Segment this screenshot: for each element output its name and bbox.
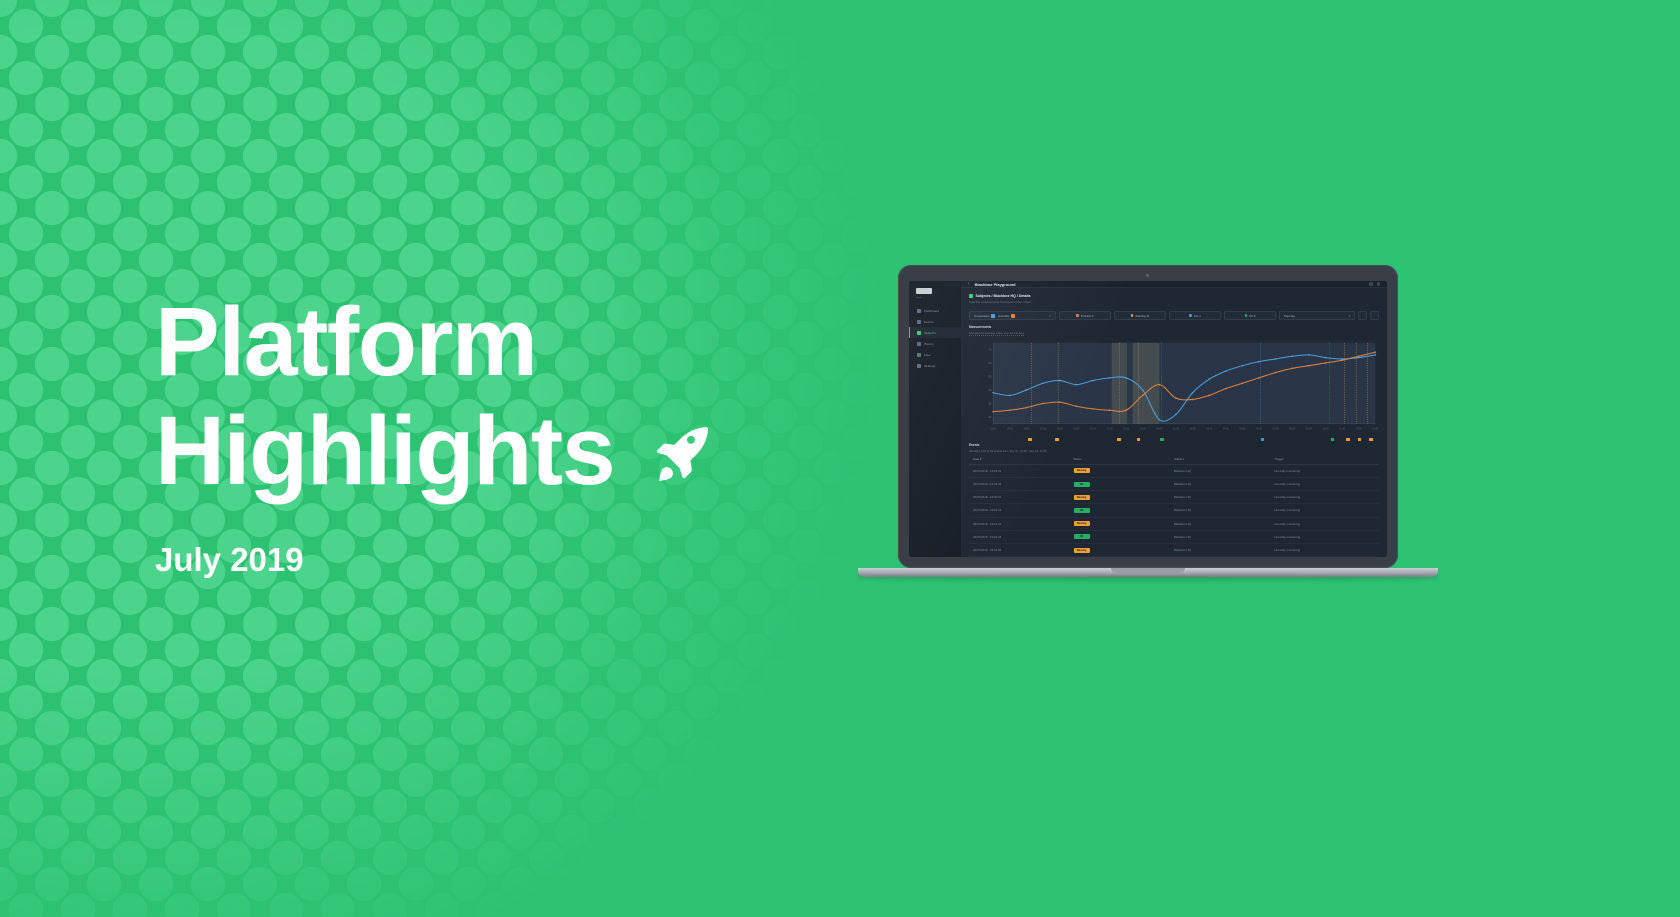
filter-ok-button[interactable]: OK 5	[1224, 311, 1276, 320]
sidebar-item-fleet[interactable]: Fleet	[909, 349, 961, 360]
title-line-2: Highlights	[155, 397, 935, 506]
title-text-line1: Platform	[155, 288, 536, 397]
table-body: 26/07/2019 - 19:52:31WarningBlackbox HQH…	[969, 465, 1379, 557]
chip-label: Humidity	[998, 314, 1009, 318]
fleet-icon	[917, 353, 921, 357]
sidebar-item-dashboard[interactable]: Dashboard	[909, 305, 961, 316]
event-marker[interactable]	[1028, 438, 1032, 441]
measurements-header: Measurements Showing the average value o…	[961, 320, 1387, 336]
status-dot-ok	[1245, 314, 1248, 317]
time-range-select[interactable]: Past day ▾	[1279, 311, 1355, 320]
breadcrumb: Subjects / Blackbox HQ / Details	[969, 294, 1379, 298]
subjects-icon	[969, 294, 973, 298]
chip-temperature[interactable]: Temperature	[974, 314, 995, 318]
chip-humidity[interactable]: Humidity	[998, 314, 1014, 318]
color-swatch-orange	[1011, 314, 1015, 318]
laptop-screen: cloud Dashboard Events Subjects	[909, 281, 1387, 557]
status-badge: Warning	[1074, 521, 1090, 526]
title-line-1: Platform	[155, 288, 935, 397]
table-row[interactable]: 26/07/2019 - 19:40:31WarningBlackbox HQH…	[969, 491, 1379, 504]
events-title: Events	[969, 443, 1379, 447]
event-marker[interactable]	[1137, 438, 1141, 441]
banner-copy: Platform Highlights July 2019	[155, 288, 935, 579]
cell-date: 26/07/2019 - 19:42:04	[973, 482, 1074, 486]
laptop-lid: cloud Dashboard Events Subjects	[898, 265, 1398, 568]
breadcrumb-section: Subjects / Blackbox HQ / Details View th…	[961, 288, 1387, 307]
sidebar-item-label: Settings	[924, 364, 935, 368]
svg-text:16:00: 16:00	[1023, 427, 1030, 430]
svg-text:30: 30	[988, 402, 992, 406]
cell-status: Warning	[1074, 521, 1175, 526]
status-dot-warning	[1131, 314, 1134, 317]
svg-text:21:00: 21:00	[1106, 427, 1113, 430]
webcam-icon	[1146, 274, 1149, 277]
svg-text:13:00: 13:00	[1372, 427, 1379, 430]
brand-logo	[909, 288, 961, 302]
cell-date: 26/07/2019 - 19:52:31	[973, 469, 1074, 473]
sidebar: cloud Dashboard Events Subjects	[909, 281, 961, 557]
column-header-trigger[interactable]: Trigger	[1275, 457, 1376, 461]
status-badge: OK	[1074, 534, 1090, 539]
metric-select[interactable]: Temperature Humidity ▾	[969, 311, 1056, 320]
download-icon[interactable]	[1370, 311, 1379, 320]
table-row[interactable]: 26/07/2019 - 19:52:31WarningBlackbox HQH…	[969, 465, 1379, 478]
svg-text:14:00: 14:00	[990, 427, 997, 430]
history-icon	[917, 342, 921, 346]
status-badge: OK	[1074, 482, 1090, 487]
table-row[interactable]: 26/07/2019 - 18:44:05WarningBlackbox HQH…	[969, 544, 1379, 557]
table-row[interactable]: 26/07/2019 - 19:42:04OKBlackbox HQHumidi…	[969, 478, 1379, 491]
table-row[interactable]: 26/07/2019 - 19:22:14OKBlackbox HQHumidi…	[969, 504, 1379, 517]
filter-label: Warning 11	[1135, 314, 1149, 318]
sidebar-item-events[interactable]: Events	[909, 316, 961, 327]
event-marker[interactable]	[1055, 438, 1059, 441]
event-marker[interactable]	[1331, 438, 1335, 441]
cell-subject: Blackbox HQ	[1174, 495, 1275, 499]
svg-text:60: 60	[988, 361, 992, 365]
cell-trigger: Humidity monitoring	[1275, 469, 1376, 473]
sidebar-item-subjects[interactable]: Subjects	[909, 327, 961, 338]
dashboard-icon	[917, 309, 921, 313]
svg-text:50: 50	[988, 375, 992, 379]
cell-date: 26/07/2019 - 19:12:31	[973, 522, 1074, 526]
page-title: Platform Highlights	[155, 288, 935, 505]
brand-sub-label: cloud	[909, 297, 961, 299]
svg-text:19:00: 19:00	[1073, 427, 1080, 430]
svg-text:22:00: 22:00	[1123, 427, 1130, 430]
svg-text:08:00: 08:00	[1289, 427, 1296, 430]
cell-status: OK	[1074, 508, 1175, 513]
table-header-row: Date ▾ Status Subject Trigger	[969, 457, 1379, 465]
title-text-line2: Highlights	[155, 397, 614, 506]
laptop-mockup: cloud Dashboard Events Subjects	[858, 265, 1438, 590]
chip-label: Temperature	[974, 314, 990, 318]
cell-trigger: Humidity monitoring	[1275, 495, 1376, 499]
gear-icon	[917, 364, 921, 368]
cell-date: 26/07/2019 - 19:02:44	[973, 535, 1074, 539]
svg-text:00:00: 00:00	[1156, 427, 1163, 430]
svg-text:02:00: 02:00	[1190, 427, 1197, 430]
topbar: ‹ Blackbox Playground	[961, 281, 1387, 288]
cell-subject: Blackbox HQ	[1174, 548, 1275, 552]
svg-text:05:00: 05:00	[1239, 427, 1246, 430]
event-marker[interactable]	[1117, 438, 1121, 441]
cell-trigger: Humidity monitoring	[1275, 548, 1376, 552]
svg-text:15:00: 15:00	[1007, 427, 1014, 430]
status-dot-problem	[1076, 314, 1079, 317]
svg-text:01:00: 01:00	[1173, 427, 1180, 430]
cell-subject: Blackbox HQ	[1174, 469, 1275, 473]
filter-problem-button[interactable]: Problem 1	[1059, 311, 1111, 320]
event-marker[interactable]	[1261, 438, 1265, 441]
event-marker[interactable]	[1369, 438, 1373, 441]
svg-text:09:00: 09:00	[1306, 427, 1313, 430]
table-row[interactable]: 26/07/2019 - 19:12:31WarningBlackbox HQH…	[969, 518, 1379, 531]
topbar-title: Blackbox Playground	[975, 282, 1016, 287]
svg-text:20:00: 20:00	[1090, 427, 1097, 430]
sidebar-item-label: Dashboard	[924, 309, 939, 313]
event-marker[interactable]	[1358, 438, 1362, 441]
cell-status: OK	[1074, 482, 1175, 487]
svg-text:06:00: 06:00	[1256, 427, 1263, 430]
sidebar-item-label: Fleet	[924, 353, 931, 357]
events-header: Events Showing 1-10 of 23 events from Ju…	[961, 438, 1387, 453]
main-content: ‹ Blackbox Playground Subjects / Blackbo…	[961, 281, 1387, 557]
measurements-title: Measurements	[969, 325, 1379, 329]
svg-text:04:00: 04:00	[1223, 427, 1230, 430]
banner-subtitle: July 2019	[155, 541, 935, 579]
events-subtitle: Showing 1-10 of 23 events from July 31, …	[969, 449, 1379, 453]
sidebar-item-label: Events	[924, 320, 933, 324]
cell-status: OK	[1074, 534, 1175, 539]
svg-text:18:00: 18:00	[1057, 427, 1064, 430]
cell-status: Warning	[1074, 548, 1175, 553]
rocket-icon	[648, 419, 718, 489]
brand-mark-icon	[916, 288, 932, 294]
user-avatar-icon[interactable]	[1377, 282, 1380, 285]
table-row[interactable]: 26/07/2019 - 19:02:44OKBlackbox HQHumidi…	[969, 531, 1379, 544]
svg-text:23:00: 23:00	[1140, 427, 1147, 430]
column-header-date[interactable]: Date ▾	[973, 457, 1074, 461]
status-dot-info	[1189, 314, 1192, 317]
bell-icon	[917, 320, 921, 324]
time-range-label: Past day	[1284, 314, 1295, 318]
dashboard-app: cloud Dashboard Events Subjects	[909, 281, 1387, 557]
event-marker[interactable]	[1346, 438, 1350, 441]
sidebar-item-settings[interactable]: Settings	[909, 360, 961, 371]
cell-date: 26/07/2019 - 19:22:14	[973, 508, 1074, 512]
svg-text:20: 20	[988, 415, 992, 419]
subjects-icon	[917, 331, 921, 335]
topbar-actions	[1369, 282, 1380, 285]
help-icon[interactable]	[1369, 282, 1372, 285]
event-marker[interactable]	[1160, 438, 1164, 441]
svg-text:07:00: 07:00	[1273, 427, 1280, 430]
status-badge: Warning	[1074, 548, 1090, 553]
cell-subject: Blackbox HQ	[1174, 482, 1275, 486]
cell-subject: Blackbox HQ	[1174, 508, 1275, 512]
cell-date: 26/07/2019 - 18:44:05	[973, 548, 1074, 552]
filter-warning-button[interactable]: Warning 11	[1114, 311, 1166, 320]
cell-trigger: Humidity monitoring	[1275, 508, 1376, 512]
cell-trigger: Humidity monitoring	[1275, 535, 1376, 539]
breadcrumb-text[interactable]: Subjects / Blackbox HQ / Details	[976, 294, 1031, 298]
refresh-icon[interactable]	[1358, 311, 1367, 320]
cell-trigger: Humidity monitoring	[1275, 482, 1376, 486]
color-swatch-blue	[991, 314, 995, 318]
svg-text:17:00: 17:00	[1040, 427, 1047, 430]
filter-label: OK 5	[1249, 314, 1255, 318]
status-badge: Warning	[1074, 468, 1090, 473]
measurements-chart[interactable]: 20304050607014:0015:0016:0017:0018:0019:…	[969, 339, 1379, 437]
column-header-subject[interactable]: Subject	[1174, 457, 1275, 461]
measurements-subtitle: Showing the average value over 10 min.av…	[969, 331, 1024, 336]
events-table: Date ▾ Status Subject Trigger 26/07/2019…	[969, 457, 1379, 557]
cell-trigger: Humidity monitoring	[1275, 522, 1376, 526]
column-header-status[interactable]: Status	[1074, 457, 1175, 461]
svg-text:12:00: 12:00	[1356, 427, 1363, 430]
breadcrumb-description: View the measurements and events of this…	[969, 300, 1379, 304]
filter-label: Problem 1	[1081, 314, 1094, 318]
chart-svg: 20304050607014:0015:0016:0017:0018:0019:…	[969, 339, 1379, 437]
sidebar-item-label: History	[924, 342, 934, 346]
cell-subject: Blackbox HQ	[1174, 522, 1275, 526]
sidebar-item-history[interactable]: History	[909, 338, 961, 349]
svg-text:11:00: 11:00	[1339, 427, 1346, 430]
filter-info-button[interactable]: Info 1	[1169, 311, 1221, 320]
hinge-notch	[1111, 568, 1185, 573]
svg-text:03:00: 03:00	[1206, 427, 1213, 430]
svg-text:70: 70	[988, 348, 992, 352]
sidebar-item-label: Subjects	[924, 331, 936, 335]
chevron-left-icon[interactable]: ‹	[968, 281, 970, 287]
filter-bar: Temperature Humidity ▾ Problem 1	[961, 311, 1387, 320]
laptop-shadow	[858, 575, 1438, 580]
cell-subject: Blackbox HQ	[1174, 535, 1275, 539]
chevron-down-icon: ▾	[1349, 314, 1350, 318]
filter-label: Info 1	[1194, 314, 1201, 318]
cell-status: Warning	[1074, 468, 1175, 473]
chevron-down-icon[interactable]: ▾	[1049, 314, 1051, 318]
status-badge: Warning	[1074, 495, 1090, 500]
svg-text:40: 40	[988, 388, 992, 392]
cell-date: 26/07/2019 - 19:40:31	[973, 495, 1074, 499]
svg-text:10:00: 10:00	[1322, 427, 1329, 430]
cell-status: Warning	[1074, 495, 1175, 500]
status-badge: OK	[1074, 508, 1090, 513]
